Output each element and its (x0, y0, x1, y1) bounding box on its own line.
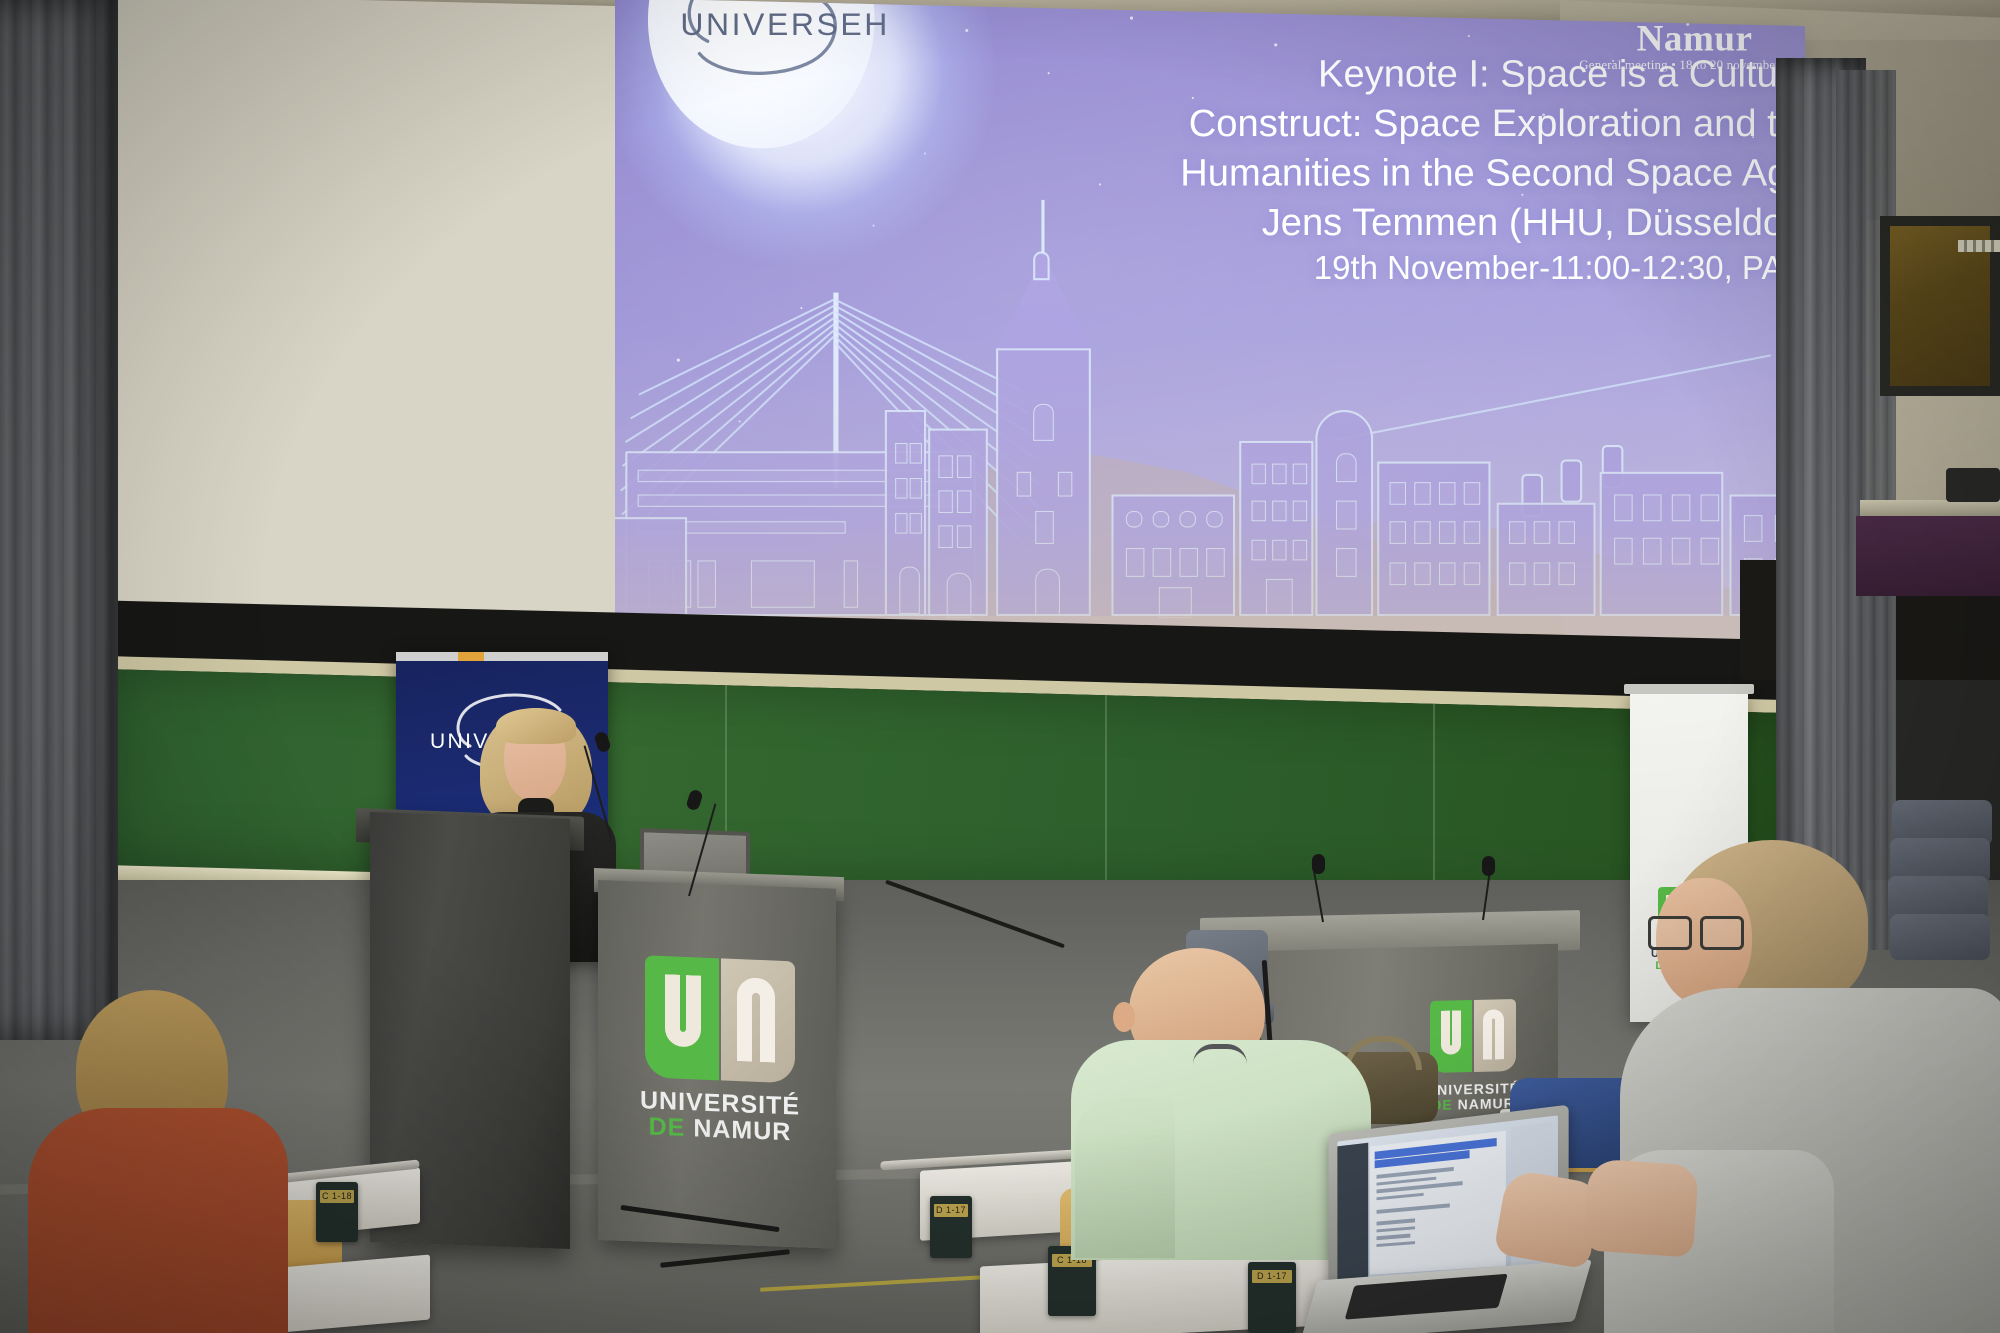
chalkboard-seam (1105, 695, 1107, 891)
av-equipment (1946, 468, 2000, 502)
slide-title-line-1: Keynote I: Space is a Cultural (862, 50, 1805, 100)
wall-shelf (1860, 500, 2000, 516)
namur-skyline-illustration (615, 303, 1805, 643)
universite-namur-shield-icon (1430, 999, 1516, 1073)
seat-plate: C 1-18 (316, 1182, 358, 1242)
ceiling-light-fixture (1958, 240, 2000, 252)
logo-line-de: DE (649, 1113, 686, 1142)
arm (1075, 1098, 1175, 1258)
universite-namur-shield-icon (645, 955, 795, 1083)
seat-plate-label: D 1-17 (1252, 1270, 1292, 1283)
shield-right-stone (721, 958, 795, 1083)
glasses-icon (1648, 916, 1740, 946)
rollup-top-cap (1624, 684, 1754, 694)
logo-line-namur: NAMUR (693, 1115, 791, 1147)
lower-wall-panel-right (1856, 516, 2000, 596)
universite-namur-wordmark: UNIVERSITÉ DE NAMUR (636, 1087, 804, 1146)
slide-title-line-4: Jens Temmen (HHU, Düsseldorf) (862, 198, 1805, 248)
lanyard (1193, 1044, 1247, 1089)
universeh-logo: UNIVERSEH (666, 0, 857, 97)
banner-top-rail (396, 652, 608, 661)
projection-screen: UNIVERSEH Namur General meeting • 18 to … (105, 0, 1795, 674)
audience-right-laptop (1610, 840, 2000, 1333)
keyboard-keys[interactable] (1345, 1274, 1508, 1320)
screen-left-dark-edge (1337, 1142, 1368, 1281)
ear (1113, 1002, 1135, 1032)
universeh-wordmark: UNIVERSEH (680, 6, 889, 43)
chalkboard-seam (1433, 704, 1435, 900)
slide-title-line-2: Construct: Space Exploration and the (862, 99, 1805, 149)
seat-plate-label: C 1-18 (320, 1190, 354, 1203)
presentation-slide: UNIVERSEH Namur General meeting • 18 to … (615, 0, 1805, 652)
seat-plate: D 1-17 (930, 1196, 972, 1258)
shield-right-stone (1474, 999, 1516, 1072)
slide-title-line-3: Humanities in the Second Space Age, (862, 149, 1805, 199)
audience-front-left (48, 990, 278, 1333)
presenter-fringe (496, 708, 576, 744)
curtain-left (0, 0, 118, 1040)
skyline-fade-overlay (615, 334, 1805, 643)
right-hand (1583, 1158, 1699, 1257)
torso-rust-top (28, 1108, 288, 1333)
seat-plate-label: D 1-17 (934, 1204, 968, 1217)
lectern-panel-logo: UNIVERSITÉ DE NAMUR (636, 955, 804, 1162)
seat-plate: D 1-17 (1248, 1262, 1296, 1333)
slide-title-block: Keynote I: Space is a Cultural Construct… (862, 50, 1805, 291)
lecture-hall-photo: UNIVERSEH Namur General meeting • 18 to … (0, 0, 2000, 1333)
shield-left-green (645, 955, 719, 1080)
